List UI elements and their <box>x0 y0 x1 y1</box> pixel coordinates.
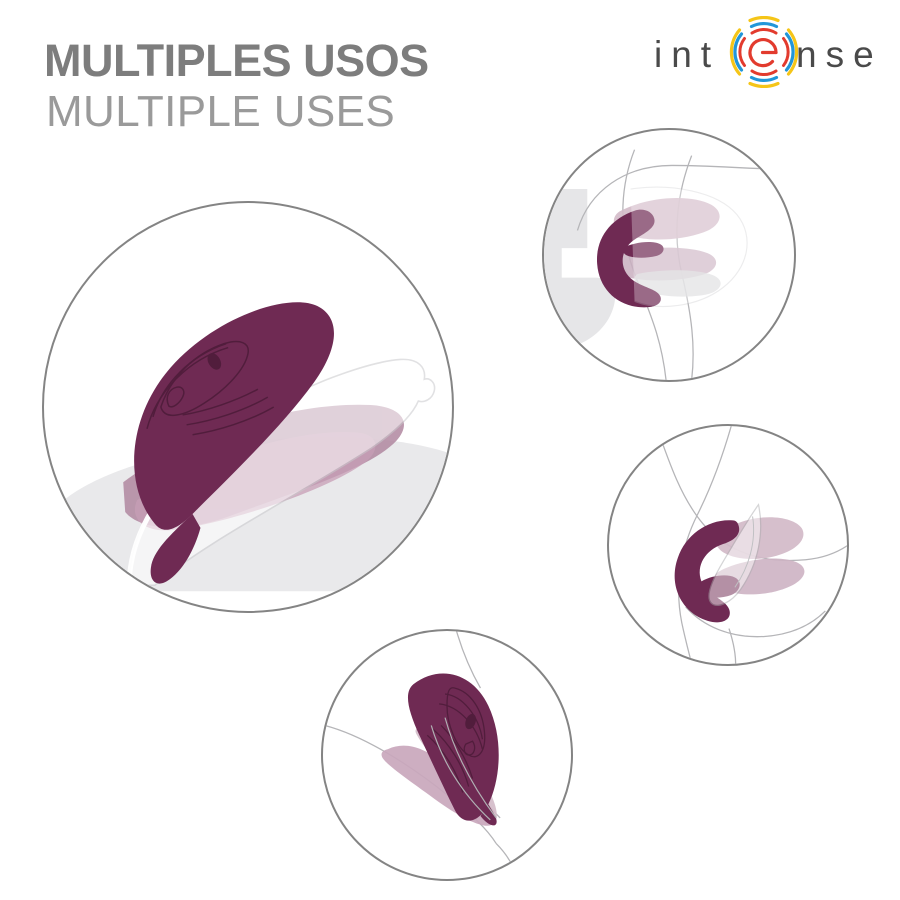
title-primary: MULTIPLES USOS <box>44 38 429 83</box>
brand-logo: int nse <box>648 14 896 92</box>
page-title: MULTIPLES USOS MULTIPLE USES <box>44 38 429 134</box>
illustration-usage-top-right <box>542 128 796 382</box>
illustration-usage-mid-right <box>607 424 849 666</box>
illustration-usage-bottom <box>321 629 573 881</box>
brand-name-part-b: nse <box>796 34 883 76</box>
title-secondary: MULTIPLE USES <box>46 90 429 134</box>
brand-name-part-a: int <box>654 34 720 76</box>
sleeve-overlay <box>631 187 747 306</box>
intense-target-emblem-icon <box>728 16 800 88</box>
poster-canvas: MULTIPLES USOS MULTIPLE USES int <box>0 0 900 900</box>
illustration-main-product-with-sleeve <box>42 201 454 613</box>
